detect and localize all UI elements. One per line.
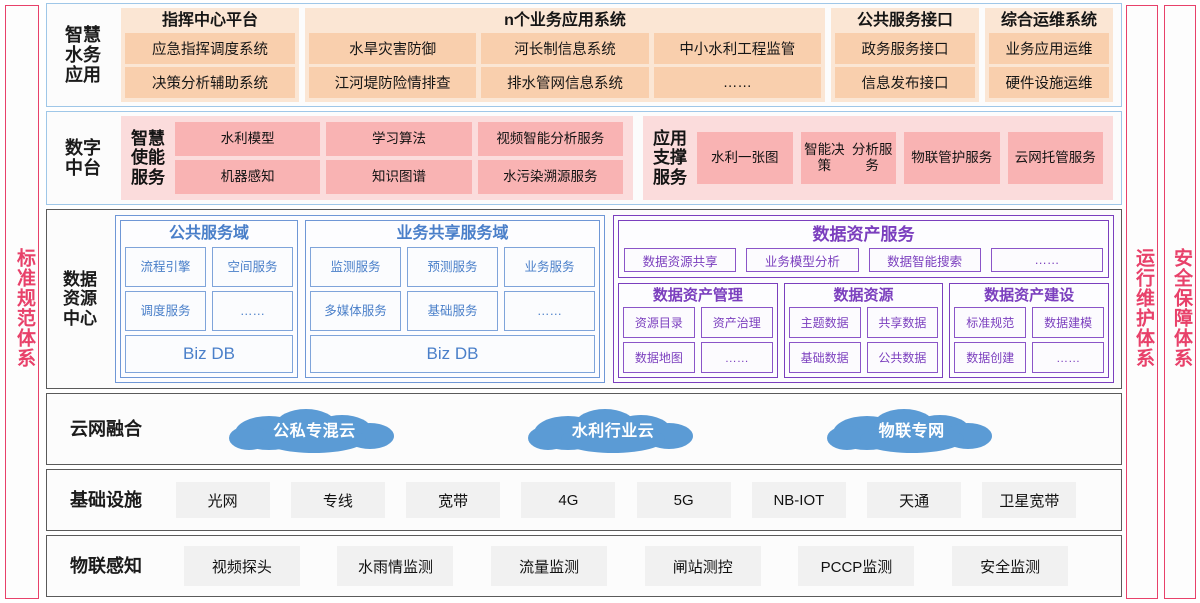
domain-item-line1: 多媒体 [324, 304, 362, 318]
biz-db[interactable]: Biz DB [125, 335, 293, 373]
asset-service-item-more[interactable]: …… [991, 248, 1103, 272]
enable-label-3: 服务 [131, 168, 165, 187]
asset-item[interactable]: 共享数据 [867, 307, 939, 338]
support-label-2: 支撑 [653, 148, 687, 167]
infrastructure-items: 光网 专线 宽带 4G 5G NB-IOT 天通 卫星宽带 [165, 470, 1121, 530]
app-item[interactable]: 江河堤防险情排查 [309, 67, 476, 98]
mid-item[interactable]: 水污染溯源服务 [478, 160, 623, 194]
cloud-item[interactable]: 公私专混云 [224, 403, 404, 455]
data-asset-container: 数据资产服务 数据资源共享 业务模型分析 数据智能搜索 …… 数据资产管理 [613, 215, 1114, 383]
iot-chip[interactable]: 流量监测 [491, 546, 607, 586]
mid-item[interactable]: 水利一张图 [697, 132, 793, 184]
mid-label-line-1: 数字 [65, 138, 101, 158]
app-item[interactable]: 政务服务接口 [835, 33, 975, 64]
group-integrated-ops: 综合运维系统 业务应用运维 硬件设施运维 [985, 8, 1113, 102]
mid-item[interactable]: 云网托管服务 [1008, 132, 1104, 184]
group-business-systems: n个业务应用系统 水旱灾害防御 河长制信息系统 中小水利工程监管 江河堤防险情排… [305, 8, 825, 102]
asset-item[interactable]: 公共数据 [867, 342, 939, 373]
asset-item[interactable]: 数据建模 [1032, 307, 1104, 338]
iot-chip[interactable]: 闸站测控 [645, 546, 761, 586]
mid-item-line1: 智能决策 [801, 142, 849, 174]
row-data-resource-center: 数据 资源 中心 公共服务域 流程引擎 空间服务 [46, 209, 1122, 389]
group-command-center: 指挥中心平台 应急指挥调度系统 决策分析辅助系统 [121, 8, 299, 102]
enable-label-2: 使能 [131, 148, 165, 167]
cloud-label: 公私专混云 [224, 403, 404, 455]
domain-title: 业务共享服务域 [310, 224, 595, 243]
data-asset-management: 数据资产管理 资源目录 资产治理 数据地图 …… [618, 283, 778, 378]
asset-service-item[interactable]: 数据资源共享 [624, 248, 736, 272]
domain-item[interactable]: 预测服务 [407, 247, 498, 287]
row-infrastructure: 基础设施 光网 专线 宽带 4G 5G NB-IOT 天通 卫星宽带 [46, 469, 1122, 531]
data-asset-service-title: 数据资产服务 [624, 223, 1103, 248]
row-label-infrastructure: 基础设施 [47, 470, 165, 530]
group-title: n个业务应用系统 [309, 10, 821, 33]
column-title: 数据资产建设 [954, 286, 1104, 307]
asset-service-item[interactable]: 数据智能搜索 [869, 248, 981, 272]
infra-chip[interactable]: 光网 [176, 482, 270, 518]
domain-item[interactable]: 基础服务 [407, 291, 498, 331]
row-label-cloud-network: 云网融合 [47, 394, 165, 464]
mid-item[interactable]: 智能决策分析服务 [801, 132, 897, 184]
app-item[interactable]: 业务应用运维 [989, 33, 1109, 64]
group-title: 综合运维系统 [989, 10, 1109, 33]
domain-public-service: 公共服务域 流程引擎 空间服务 调度服务 …… Biz DB [120, 220, 298, 378]
cloud-item[interactable]: 水利行业云 [523, 403, 703, 455]
asset-item[interactable]: 资源目录 [623, 307, 695, 338]
support-label-1: 应用 [653, 129, 687, 148]
app-label-line-2: 水务 [65, 45, 101, 65]
mid-item[interactable]: 知识图谱 [326, 160, 471, 194]
app-label-line-1: 智慧 [65, 25, 101, 45]
data-asset-construction: 数据资产建设 标准规范 数据建模 数据创建 …… [949, 283, 1109, 378]
biz-db[interactable]: Biz DB [310, 335, 595, 373]
mid-item-line1: 水污染 [503, 169, 544, 185]
diagram-center-stack: 智慧 水务 应用 指挥中心平台 应急指挥调度系统 决策分析辅助系统 [46, 3, 1122, 601]
infra-chip[interactable]: 4G [521, 482, 615, 518]
application-groups: 指挥中心平台 应急指挥调度系统 决策分析辅助系统 n个业务应用系统 [119, 4, 1121, 106]
domain-item-line2: 服务 [362, 304, 387, 318]
group-public-service-interface: 公共服务接口 政务服务接口 信息发布接口 [831, 8, 979, 102]
mid-item[interactable]: 学习算法 [326, 122, 471, 156]
iot-chip[interactable]: 视频探头 [184, 546, 300, 586]
data-resource-inner: 公共服务域 流程引擎 空间服务 调度服务 …… Biz DB [113, 210, 1121, 388]
row-label-application: 智慧 水务 应用 [47, 4, 119, 106]
infra-chip[interactable]: 5G [637, 482, 731, 518]
block-smart-enablement: 智慧 使能 服务 水利模型 机器感知 学习算法 知识图谱 [121, 116, 633, 200]
infra-chip[interactable]: 天通 [867, 482, 961, 518]
domain-item[interactable]: 调度服务 [125, 291, 206, 331]
infra-chip[interactable]: 专线 [291, 482, 385, 518]
drc-label-2: 资源 [63, 289, 97, 308]
block-label: 应用 支撑 服务 [653, 129, 687, 187]
asset-item[interactable]: 数据创建 [954, 342, 1026, 373]
column-title: 数据资源 [789, 286, 939, 307]
mid-item[interactable]: 视频智能分析服务 [478, 122, 623, 156]
domain-item[interactable]: 监测服务 [310, 247, 401, 287]
cloud-list: 公私专混云 水利行业云 [165, 394, 1121, 464]
mid-item-line1: 视频智能 [496, 131, 550, 147]
domain-business-shared-service: 业务共享服务域 监测服务 预测服务 业务服务 多媒体服务 基础服务 …… [305, 220, 600, 378]
mid-item-line2: 护服务 [952, 150, 993, 166]
infra-chip[interactable]: 宽带 [406, 482, 500, 518]
app-item[interactable]: 硬件设施运维 [989, 67, 1109, 98]
group-title: 公共服务接口 [835, 10, 975, 33]
domain-item-more[interactable]: …… [504, 291, 595, 331]
drc-label-3: 中心 [63, 309, 97, 328]
block-label: 智慧 使能 服务 [131, 129, 165, 187]
drc-label-1: 数据 [63, 270, 97, 289]
iot-items: 视频探头 水雨情监测 流量监测 闸站测控 PCCP监测 安全监测 [165, 536, 1121, 596]
mid-label-line-2: 中台 [65, 158, 101, 178]
data-asset-service: 数据资产服务 数据资源共享 业务模型分析 数据智能搜索 …… [618, 220, 1109, 278]
cloud-item[interactable]: 物联专网 [822, 403, 1002, 455]
app-item-more[interactable]: …… [654, 67, 821, 98]
asset-item[interactable]: 主题数据 [789, 307, 861, 338]
pillar-standards: 标准规范体系 [5, 5, 39, 599]
domain-item[interactable]: 多媒体服务 [310, 291, 401, 331]
enable-label-1: 智慧 [131, 129, 165, 148]
mid-item[interactable]: 物联管护服务 [904, 132, 1000, 184]
domain-item[interactable]: 空间服务 [212, 247, 293, 287]
group-title: 指挥中心平台 [125, 10, 295, 33]
asset-service-item[interactable]: 业务模型分析 [746, 248, 858, 272]
asset-item[interactable]: 资产治理 [701, 307, 773, 338]
app-item[interactable]: 应急指挥调度系统 [125, 33, 295, 64]
app-item[interactable]: 中小水利工程监管 [654, 33, 821, 64]
mid-item-line2: 溯源服务 [544, 169, 598, 185]
app-item[interactable]: 河长制信息系统 [481, 33, 648, 64]
mid-item[interactable]: 水利模型 [175, 122, 320, 156]
row-digital-midplatform: 数字 中台 智慧 使能 服务 水利模型 机器感知 [46, 111, 1122, 205]
service-domains-container: 公共服务域 流程引擎 空间服务 调度服务 …… Biz DB [115, 215, 605, 383]
mid-item[interactable]: 机器感知 [175, 160, 320, 194]
iot-chip[interactable]: 水雨情监测 [337, 546, 453, 586]
infra-chip[interactable]: NB-IOT [752, 482, 846, 518]
mid-item-line1: 云网托管 [1015, 150, 1069, 166]
data-resource-column: 数据资源 主题数据 共享数据 基础数据 公共数据 [784, 283, 944, 378]
asset-item-more[interactable]: …… [1032, 342, 1104, 373]
block-application-support: 应用 支撑 服务 水利一张图 智能决策分析服务 物联管护服务 云网托管服务 [643, 116, 1113, 200]
domain-item[interactable]: 流程引擎 [125, 247, 206, 287]
iot-chip[interactable]: 安全监测 [952, 546, 1068, 586]
app-item[interactable]: 信息发布接口 [835, 67, 975, 98]
asset-item[interactable]: 数据地图 [623, 342, 695, 373]
support-label-3: 服务 [653, 168, 687, 187]
midplatform-blocks: 智慧 使能 服务 水利模型 机器感知 学习算法 知识图谱 [119, 112, 1121, 204]
infra-chip[interactable]: 卫星宽带 [982, 482, 1076, 518]
row-smart-water-application: 智慧 水务 应用 指挥中心平台 应急指挥调度系统 决策分析辅助系统 [46, 3, 1122, 107]
mid-item-line2: 分析服务 [550, 131, 604, 147]
row-label-data-resource-center: 数据 资源 中心 [47, 210, 113, 388]
mid-item-line2: 分析服务 [848, 142, 896, 174]
cloud-label: 物联专网 [822, 403, 1002, 455]
mid-item-line1: 物联管 [911, 150, 952, 166]
mid-item-line2: 服务 [1069, 150, 1096, 166]
app-item[interactable]: 水旱灾害防御 [309, 33, 476, 64]
column-title: 数据资产管理 [623, 286, 773, 307]
app-item[interactable]: 排水管网信息系统 [481, 67, 648, 98]
asset-item[interactable]: 标准规范 [954, 307, 1026, 338]
architecture-diagram: 标准规范体系 智慧 水务 应用 指挥中心平台 应急指挥调度系统 [0, 0, 1200, 603]
asset-item-more[interactable]: …… [701, 342, 773, 373]
asset-item[interactable]: 基础数据 [789, 342, 861, 373]
row-label-iot-sensing: 物联感知 [47, 536, 165, 596]
row-label-midplatform: 数字 中台 [47, 112, 119, 204]
iot-chip[interactable]: PCCP监测 [798, 546, 914, 586]
cloud-label: 水利行业云 [523, 403, 703, 455]
domain-item[interactable]: 业务服务 [504, 247, 595, 287]
row-cloud-network-convergence: 云网融合 公私专混云 [46, 393, 1122, 465]
pillar-operations-maintenance: 运行维护体系 [1126, 5, 1158, 599]
domain-item-more[interactable]: …… [212, 291, 293, 331]
row-iot-sensing: 物联感知 视频探头 水雨情监测 流量监测 闸站测控 PCCP监测 安全监测 [46, 535, 1122, 597]
app-item[interactable]: 决策分析辅助系统 [125, 67, 295, 98]
domain-title: 公共服务域 [125, 224, 293, 243]
pillar-security-assurance: 安全保障体系 [1164, 5, 1196, 599]
app-label-line-3: 应用 [65, 65, 101, 85]
